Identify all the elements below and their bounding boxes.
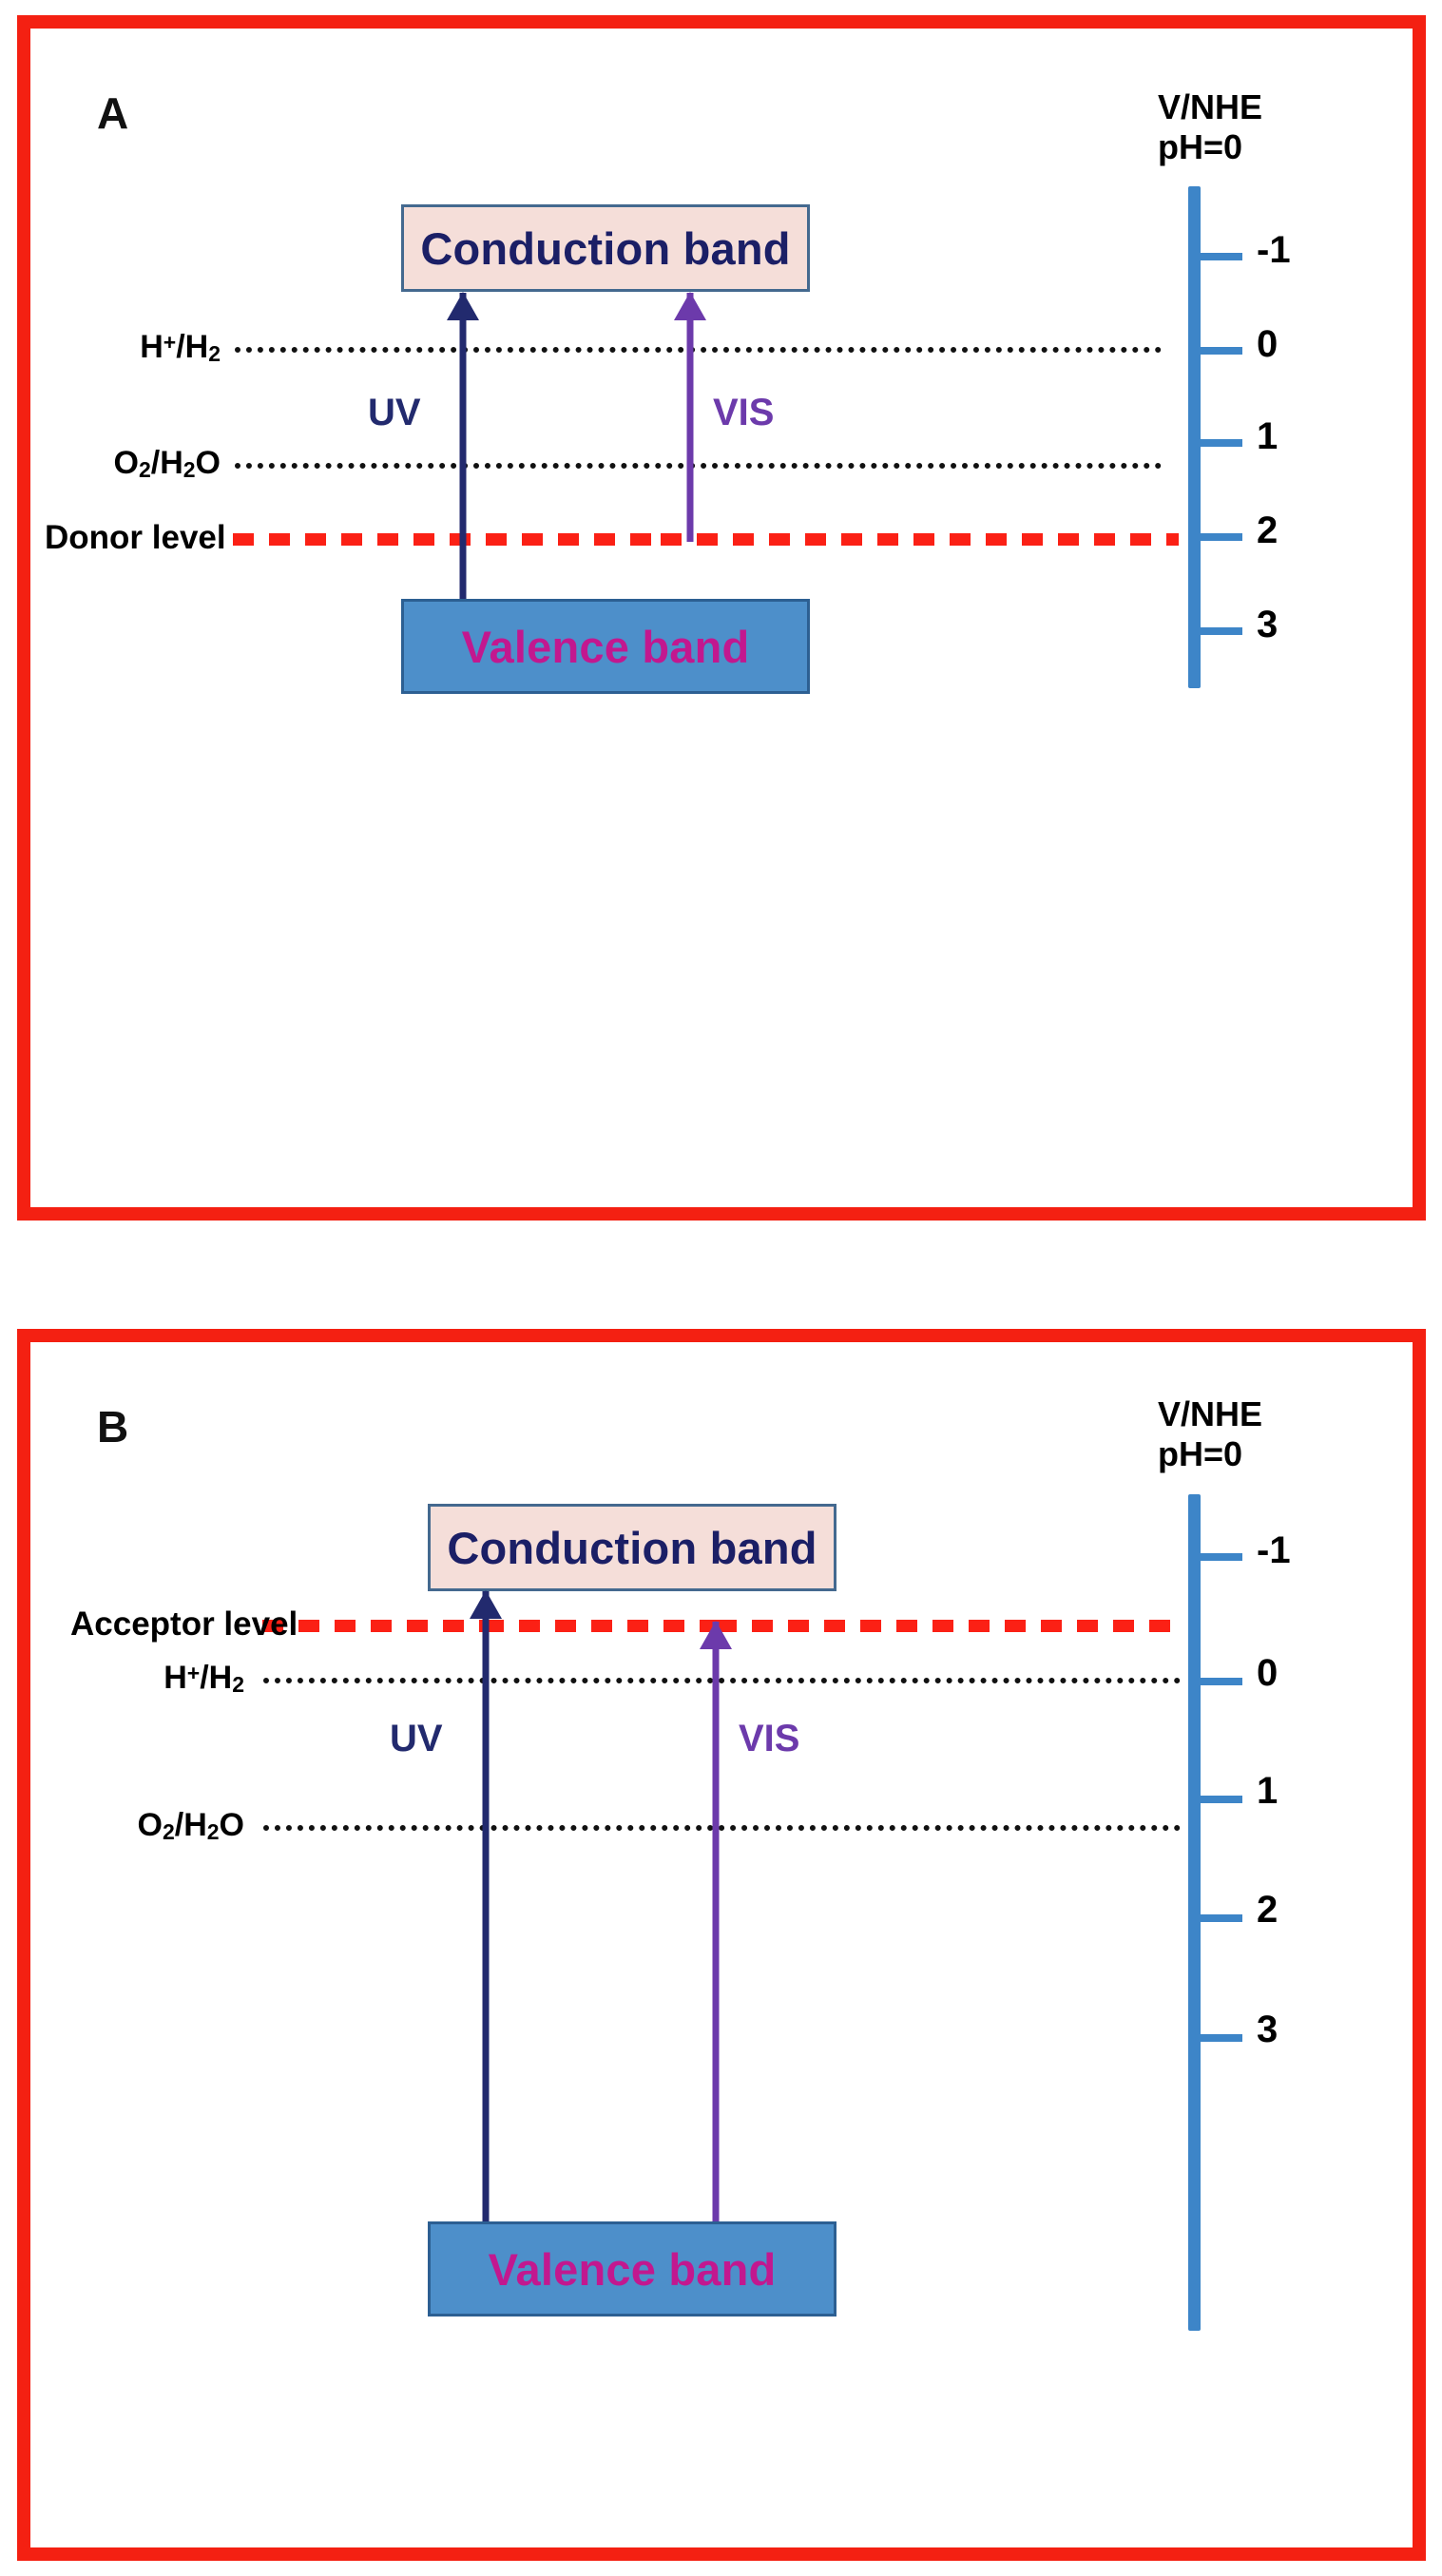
panel-b-uv-label: UV bbox=[390, 1718, 443, 1760]
panel-a-vis-arrow-head bbox=[674, 292, 706, 320]
panel-a-tick--1 bbox=[1201, 253, 1242, 260]
panel-a-axis-title: V/NHE pH=0 bbox=[1158, 87, 1262, 168]
panel-b-level-o2-h2o-label: O2/H2O bbox=[54, 1807, 244, 1845]
panel-b-vis-arrow-shaft bbox=[713, 1622, 720, 2221]
panel-a-uv-arrow bbox=[444, 293, 482, 599]
panel-b-axis-title-line1: V/NHE bbox=[1158, 1394, 1262, 1434]
panel-a-donor-level-line-right bbox=[661, 533, 1179, 546]
panel-a-plot-area: A V/NHE pH=0 Conduction band Valence ban… bbox=[30, 29, 1413, 1207]
panel-a-axis-title-line2: pH=0 bbox=[1158, 127, 1262, 167]
panel-b-tick--1 bbox=[1201, 1553, 1242, 1561]
panel-b-valence-band-label: Valence band bbox=[489, 2243, 777, 2296]
panel-b-uv-arrow bbox=[467, 1591, 505, 2221]
panel-a-tick-2 bbox=[1201, 533, 1242, 541]
panel-a-uv-label: UV bbox=[368, 392, 421, 434]
panel-a-vis-arrow bbox=[671, 293, 709, 542]
panel-b-tick-0 bbox=[1201, 1678, 1242, 1685]
panel-a-valence-band: Valence band bbox=[401, 599, 810, 694]
panel-b-plot-area: B V/NHE pH=0 Conduction band Valence ban… bbox=[30, 1342, 1413, 2547]
panel-b-tick-2 bbox=[1201, 1914, 1242, 1922]
panel-a-uv-arrow-shaft bbox=[460, 293, 467, 599]
panel-a-uv-arrow-head bbox=[447, 292, 479, 320]
panel-b-acceptor-level-label: Acceptor level bbox=[70, 1605, 298, 1644]
panel-a-tick-label--1: -1 bbox=[1257, 229, 1291, 272]
panel-b-tick-label--1: -1 bbox=[1257, 1529, 1291, 1572]
panel-b-uv-arrow-head bbox=[470, 1590, 502, 1619]
panel-a-tick-0 bbox=[1201, 347, 1242, 355]
panel-a-level-h-h2-label: H+/H2 bbox=[30, 329, 221, 367]
panel-b-tick-1 bbox=[1201, 1796, 1242, 1803]
panel-b-tick-3 bbox=[1201, 2034, 1242, 2042]
figure-canvas: A V/NHE pH=0 Conduction band Valence ban… bbox=[0, 0, 1442, 2576]
panel-b: B V/NHE pH=0 Conduction band Valence ban… bbox=[17, 1329, 1426, 2561]
panel-a-vis-label: VIS bbox=[713, 392, 774, 434]
panel-b-conduction-band: Conduction band bbox=[428, 1504, 836, 1591]
panel-b-conduction-band-label: Conduction band bbox=[447, 1522, 817, 1574]
panel-b-uv-arrow-shaft bbox=[483, 1591, 490, 2221]
panel-a-donor-level-label: Donor level bbox=[45, 519, 226, 557]
panel-a-letter: A bbox=[97, 87, 129, 139]
panel-a-level-o2-h2o-label: O2/H2O bbox=[30, 445, 221, 483]
panel-a-tick-3 bbox=[1201, 627, 1242, 635]
panel-b-acceptor-level-line-right bbox=[716, 1620, 1179, 1632]
panel-a: A V/NHE pH=0 Conduction band Valence ban… bbox=[17, 15, 1426, 1221]
panel-b-tick-label-2: 2 bbox=[1257, 1889, 1278, 1932]
panel-b-vis-arrow bbox=[697, 1622, 735, 2221]
panel-b-valence-band: Valence band bbox=[428, 2221, 836, 2316]
panel-b-potential-axis bbox=[1188, 1494, 1201, 2331]
panel-a-conduction-band-label: Conduction band bbox=[420, 222, 790, 275]
panel-a-tick-label-2: 2 bbox=[1257, 509, 1278, 552]
panel-b-axis-title-line2: pH=0 bbox=[1158, 1434, 1262, 1474]
panel-b-tick-label-3: 3 bbox=[1257, 2009, 1278, 2051]
panel-a-valence-band-label: Valence band bbox=[462, 621, 750, 673]
panel-b-level-h-h2-label: H+/H2 bbox=[54, 1660, 244, 1698]
panel-b-tick-label-0: 0 bbox=[1257, 1652, 1278, 1695]
panel-b-acceptor-level-line-mid bbox=[483, 1620, 716, 1632]
panel-b-letter: B bbox=[97, 1401, 129, 1452]
panel-b-tick-label-1: 1 bbox=[1257, 1770, 1278, 1813]
panel-a-tick-label-1: 1 bbox=[1257, 415, 1278, 458]
panel-a-axis-title-line1: V/NHE bbox=[1158, 87, 1262, 127]
panel-b-axis-title: V/NHE pH=0 bbox=[1158, 1394, 1262, 1475]
panel-a-vis-arrow-shaft bbox=[687, 293, 694, 542]
panel-a-tick-1 bbox=[1201, 439, 1242, 447]
panel-b-vis-arrow-head bbox=[700, 1621, 732, 1649]
panel-a-tick-label-0: 0 bbox=[1257, 323, 1278, 366]
panel-a-conduction-band: Conduction band bbox=[401, 204, 810, 292]
panel-b-vis-label: VIS bbox=[739, 1718, 799, 1760]
panel-a-tick-label-3: 3 bbox=[1257, 604, 1278, 646]
panel-a-potential-axis bbox=[1188, 186, 1201, 688]
